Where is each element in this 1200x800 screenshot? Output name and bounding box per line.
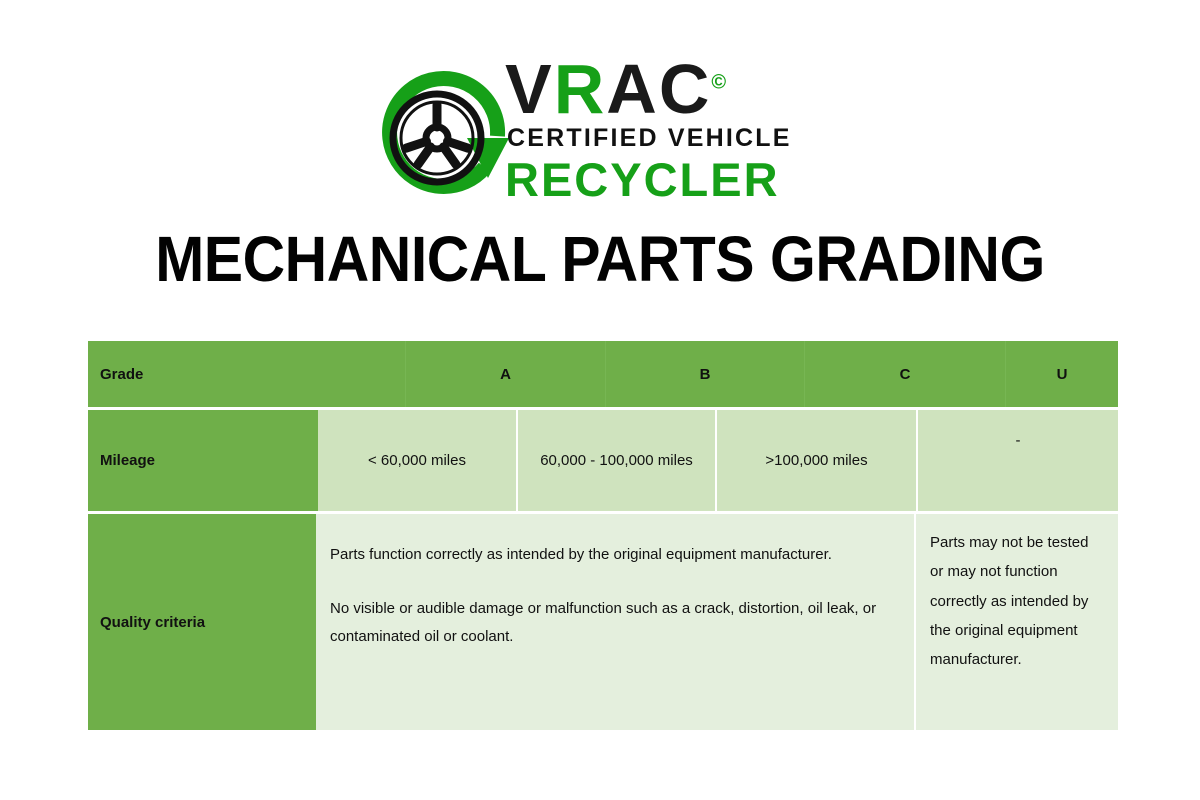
table-header-grade-label: Grade bbox=[88, 341, 406, 407]
table-header-grade-u: U bbox=[1006, 341, 1118, 407]
logo-letters-ac: AC bbox=[606, 50, 711, 128]
mileage-grade-c-value: >100,000 miles bbox=[717, 410, 918, 511]
table-header-row: Grade A B C U bbox=[88, 341, 1118, 407]
page-title: MECHANICAL PARTS GRADING bbox=[48, 222, 1152, 296]
copyright-icon: © bbox=[711, 72, 726, 94]
table-row-quality-criteria: Quality criteria Parts function correctl… bbox=[88, 514, 1118, 730]
brand-logo: VRAC© CERTIFIED VEHICLE RECYCLER bbox=[375, 58, 835, 208]
table-header-grade-a: A bbox=[406, 341, 606, 407]
quality-criteria-paragraph-2: No visible or audible damage or malfunct… bbox=[330, 595, 894, 651]
logo-brand-main: VRAC© bbox=[505, 54, 726, 124]
mileage-grade-u-value: - bbox=[918, 410, 1118, 511]
mechanical-parts-grading-table: Grade A B C U Mileage < 60,000 miles 60,… bbox=[88, 341, 1118, 730]
mileage-grade-a-value: < 60,000 miles bbox=[318, 410, 518, 511]
quality-criteria-grades-abc-cell: Parts function correctly as intended by … bbox=[316, 514, 916, 730]
logo-wordmark: VRAC© CERTIFIED VEHICLE RECYCLER bbox=[505, 58, 835, 208]
row-label-mileage: Mileage bbox=[88, 410, 318, 511]
logo-brand-sub: RECYCLER bbox=[505, 156, 780, 203]
logo-tagline: CERTIFIED VEHICLE bbox=[507, 126, 792, 151]
mileage-grade-b-value: 60,000 - 100,000 miles bbox=[518, 410, 717, 511]
quality-criteria-paragraph-1: Parts function correctly as intended by … bbox=[330, 541, 894, 569]
vrac-recycle-wheel-logo-icon bbox=[375, 60, 520, 205]
table-row-mileage: Mileage < 60,000 miles 60,000 - 100,000 … bbox=[88, 410, 1118, 511]
logo-letter-v: V bbox=[505, 50, 554, 128]
table-header-grade-b: B bbox=[606, 341, 805, 407]
table-header-grade-c: C bbox=[805, 341, 1006, 407]
row-label-quality-criteria: Quality criteria bbox=[88, 514, 316, 730]
quality-criteria-grade-u-cell: Parts may not be tested or may not funct… bbox=[916, 514, 1118, 730]
quality-criteria-u-paragraph: Parts may not be tested or may not funct… bbox=[930, 528, 1104, 674]
logo-letter-r: R bbox=[554, 50, 607, 128]
